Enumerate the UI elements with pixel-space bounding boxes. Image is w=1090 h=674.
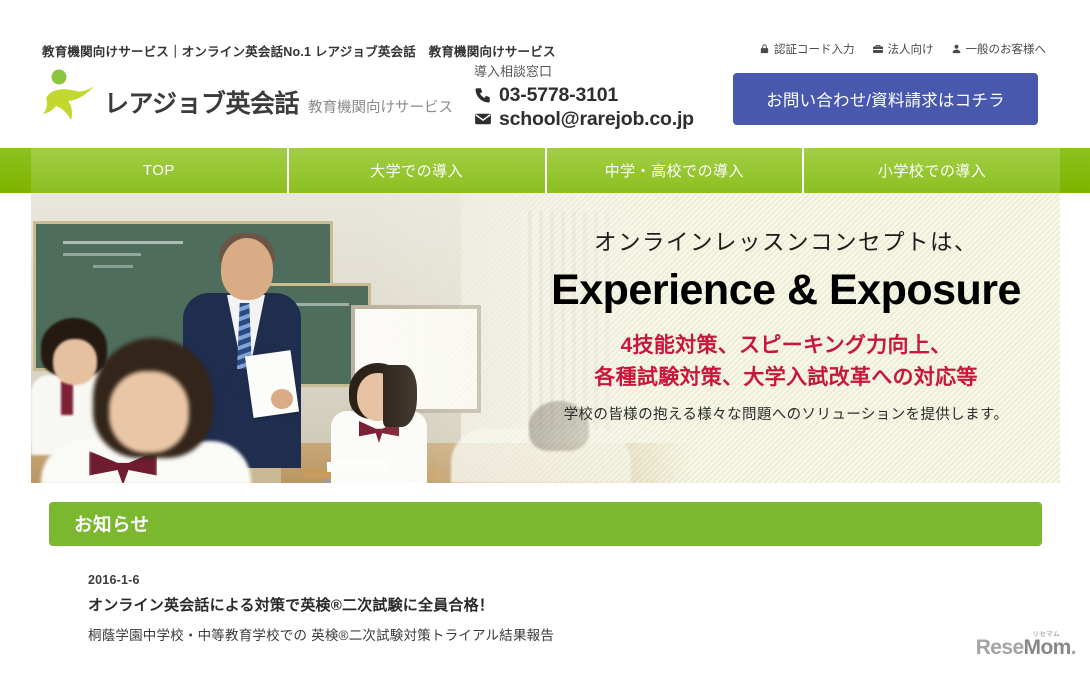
nav-item-top[interactable]: TOP xyxy=(31,148,287,193)
util-link-general-customer[interactable]: 一般のお客様へ xyxy=(951,41,1047,57)
phone-icon xyxy=(474,86,492,104)
util-link-auth-code-label: 認証コード入力 xyxy=(774,41,855,57)
news-list-item: 2016-1-6 オンライン英会話による対策で英検®二次試験に全員合格！ 桐蔭学… xyxy=(88,573,988,644)
util-link-auth-code[interactable]: 認証コード入力 xyxy=(759,41,855,57)
header-contact: 導入相談窓口 03-5778-3101 school@rarejob.co.jp xyxy=(474,63,694,131)
util-link-general-customer-label: 一般のお客様へ xyxy=(966,41,1047,57)
nav-item-elementary-label: 小学校での導入 xyxy=(878,160,987,181)
logo-subtitle: 教育機関向けサービス xyxy=(299,101,453,125)
contact-email-address: school@rarejob.co.jp xyxy=(499,107,694,131)
header-top-tagline: 教育機関向けサービス｜オンライン英会話No.1 レアジョブ英会話 教育機関向けサ… xyxy=(42,41,556,60)
watermark-part2: Mom xyxy=(1024,636,1071,660)
hero-text-block: オンラインレッスンコンセプトは、 Experience & Exposure 4… xyxy=(526,229,1046,424)
nav-item-university[interactable]: 大学での導入 xyxy=(287,148,545,193)
watermark-part1: Rese xyxy=(976,636,1024,660)
nav-item-elementary[interactable]: 小学校での導入 xyxy=(802,148,1060,193)
hero-highlight-block: 4技能対策、スピーキング力向上、 各種試験対策、大学入試改革への対応等 xyxy=(526,330,1046,394)
nav-item-top-label: TOP xyxy=(143,162,175,179)
page-root: 教育機関向けサービス｜オンライン英会話No.1 レアジョブ英会話 教育機関向けサ… xyxy=(0,0,1090,674)
hero-headline: Experience & Exposure xyxy=(526,264,1046,316)
envelope-icon xyxy=(474,110,492,128)
resemom-watermark: リセマム Rese Mom . xyxy=(976,636,1076,660)
contact-email-row[interactable]: school@rarejob.co.jp xyxy=(474,107,694,131)
contact-phone-number: 03-5778-3101 xyxy=(499,83,618,107)
hero-banner: オンラインレッスンコンセプトは、 Experience & Exposure 4… xyxy=(31,193,1060,483)
contact-cta-button[interactable]: お問い合わせ/資料請求はコチラ xyxy=(733,73,1038,125)
logo-name: レアジョブ英会話 xyxy=(104,92,299,124)
main-navigation: TOP 大学での導入 中学・高校での導入 小学校での導入 xyxy=(0,148,1090,193)
nav-item-junior-senior-high[interactable]: 中学・高校での導入 xyxy=(545,148,803,193)
nav-item-university-label: 大学での導入 xyxy=(370,160,463,181)
rarejob-star-logo-icon xyxy=(42,68,98,124)
util-link-corporate[interactable]: 法人向け xyxy=(872,41,934,57)
briefcase-icon xyxy=(872,43,884,55)
contact-cta-label: お問い合わせ/資料請求はコチラ xyxy=(766,87,1005,111)
news-section-heading-label: お知らせ xyxy=(74,511,150,537)
site-logo[interactable]: レアジョブ英会話 教育機関向けサービス xyxy=(42,68,453,124)
lock-icon xyxy=(759,43,770,55)
news-item-date: 2016-1-6 xyxy=(88,573,988,587)
person-icon xyxy=(951,43,962,55)
hero-lead-line: オンラインレッスンコンセプトは、 xyxy=(526,229,1046,256)
watermark-ruby: リセマム xyxy=(1032,628,1060,638)
hero-highlight-line-2: 各種試験対策、大学入試改革への対応等 xyxy=(526,362,1046,394)
util-link-corporate-label: 法人向け xyxy=(888,41,934,57)
header-utility-links: 認証コード入力 法人向け xyxy=(759,41,1046,57)
news-item-description: 桐蔭学園中学校・中等教育学校での 英検®二次試験対策トライアル結果報告 xyxy=(88,624,988,644)
nav-item-junior-senior-high-label: 中学・高校での導入 xyxy=(605,160,745,181)
contact-label: 導入相談窓口 xyxy=(474,63,694,81)
hero-highlight-line-1: 4技能対策、スピーキング力向上、 xyxy=(526,330,1046,362)
news-item-title[interactable]: オンライン英会話による対策で英検®二次試験に全員合格！ xyxy=(88,594,988,615)
news-section-heading: お知らせ xyxy=(49,502,1042,546)
page-container: オンラインレッスンコンセプトは、 Experience & Exposure 4… xyxy=(31,193,1060,674)
contact-phone-row[interactable]: 03-5778-3101 xyxy=(474,83,694,107)
site-header: 教育機関向けサービス｜オンライン英会話No.1 レアジョブ英会話 教育機関向けサ… xyxy=(0,0,1090,148)
hero-note: 学校の皆様の抱える様々な問題へのソリューションを提供します。 xyxy=(526,403,1046,424)
watermark-dot: . xyxy=(1071,636,1076,660)
